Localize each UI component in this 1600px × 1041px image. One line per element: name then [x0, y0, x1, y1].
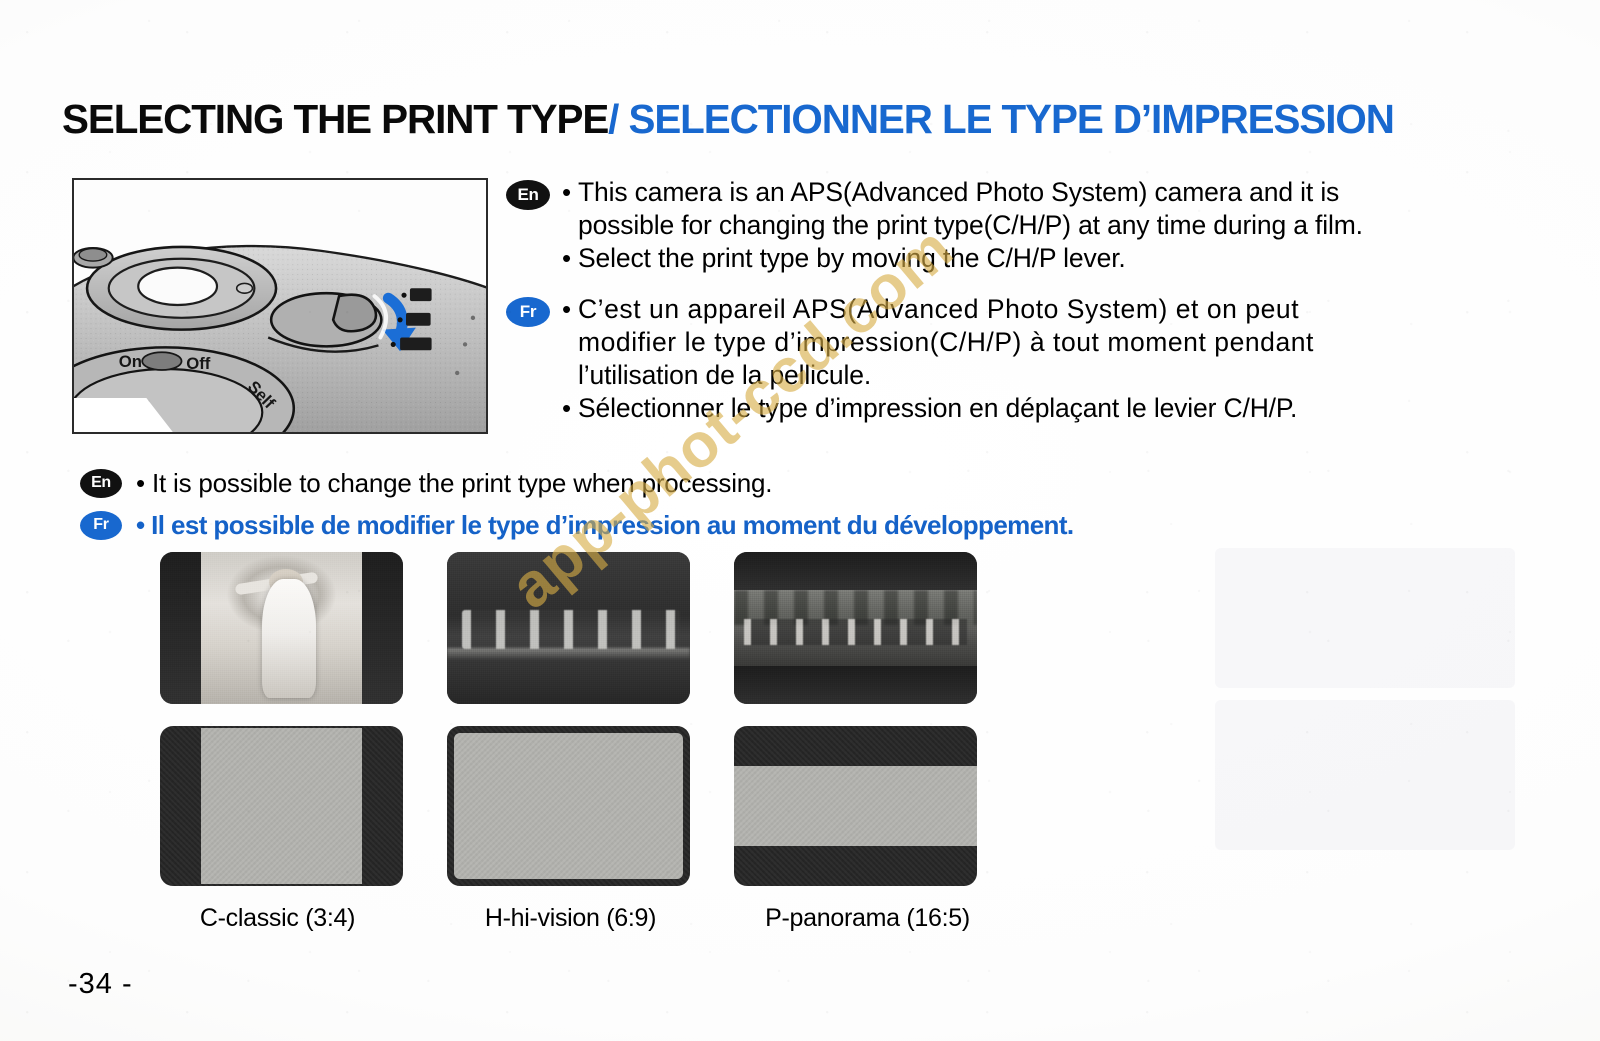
bleed-through-ghost	[1215, 700, 1515, 850]
english-instructions: En • This camera is an APS(Advanced Phot…	[506, 176, 1526, 275]
bullet-glyph: •	[136, 468, 145, 498]
note-block: En • It is possible to change the print …	[80, 462, 1380, 546]
sample-photo-classic	[160, 552, 403, 704]
language-badge-en: En	[506, 180, 550, 210]
instruction-line: This camera is an APS(Advanced Photo Sys…	[578, 176, 1363, 209]
bleed-through-ghost	[1215, 548, 1515, 688]
bullet-glyph: •	[136, 510, 145, 540]
page-number: -34 -	[68, 968, 133, 1001]
mark-h	[406, 313, 431, 326]
crop-diagram-hivision	[447, 726, 690, 886]
power-on-label: On	[119, 352, 142, 371]
note-text-en: • It is possible to change the print typ…	[136, 468, 772, 498]
power-switch	[142, 352, 181, 370]
crop-diagram-classic	[160, 726, 403, 886]
instruction-line: Select the print type by moving the C/H/…	[578, 242, 1126, 275]
bullet-item: • C’est un appareil APS(Advanced Photo S…	[562, 293, 1526, 392]
instruction-line: C’est un appareil APS(Advanced Photo Sys…	[578, 293, 1314, 326]
instruction-line: possible for changing the print type(C/H…	[578, 209, 1363, 242]
print-type-cell-classic: C-classic (3:4)	[160, 552, 403, 933]
instruction-line: l’utilisation de la pellicule.	[578, 359, 1314, 392]
language-badge-fr: Fr	[80, 511, 122, 540]
print-type-lever	[333, 295, 376, 332]
language-badge-en: En	[80, 469, 122, 498]
print-type-cell-panorama: P-panorama (16:5)	[734, 552, 977, 933]
mark-p	[400, 338, 432, 351]
page-title: SELECTING THE PRINT TYPE/ SELECTIONNER L…	[62, 96, 1520, 143]
bullet-glyph: •	[562, 176, 578, 209]
lens-screw	[237, 283, 253, 293]
bullet-glyph: •	[562, 242, 578, 275]
instruction-line: Sélectionner le type d’impression en dép…	[578, 392, 1297, 425]
camera-top-view-svg: On Off Self	[74, 180, 486, 432]
page-title-separator: /	[608, 96, 618, 142]
print-type-caption: P-panorama (16:5)	[746, 904, 989, 933]
note-sentence-en: It is possible to change the print type …	[152, 468, 772, 498]
camera-illustration: On Off Self	[72, 178, 488, 434]
print-type-examples: C-classic (3:4) H-hi-vision (6:9)	[160, 552, 1020, 933]
page-title-english: SELECTING THE PRINT TYPE	[62, 96, 608, 142]
print-type-cell-hivision: H-hi-vision (6:9)	[447, 552, 690, 933]
bullet-glyph: •	[562, 293, 578, 326]
power-off-label: Off	[186, 354, 211, 373]
print-type-caption: C-classic (3:4)	[156, 904, 399, 933]
mark-c	[410, 288, 432, 301]
print-type-caption: H-hi-vision (6:9)	[449, 904, 692, 933]
lens-glass	[138, 268, 217, 305]
note-text-fr: • Il est possible de modifier le type d’…	[136, 510, 1074, 540]
sample-photo-panorama	[734, 552, 977, 704]
note-sentence-fr: Il est possible de modifier le type d’im…	[151, 510, 1073, 540]
bullet-glyph: •	[562, 392, 578, 425]
crop-diagram-panorama	[734, 726, 977, 886]
print-type-row: C-classic (3:4) H-hi-vision (6:9)	[160, 552, 1020, 933]
bullet-item: • This camera is an APS(Advanced Photo S…	[562, 176, 1526, 242]
bullet-item: • Sélectionner le type d’impression en d…	[562, 392, 1526, 425]
page-title-french: SELECTIONNER LE TYPE D’IMPRESSION	[628, 96, 1393, 142]
note-row-en: En • It is possible to change the print …	[80, 462, 1380, 504]
instruction-block: En • This camera is an APS(Advanced Phot…	[506, 176, 1526, 425]
language-badge-fr: Fr	[506, 297, 550, 327]
note-row-fr: Fr • Il est possible de modifier le type…	[80, 504, 1380, 546]
instruction-line: modifier le type d’impression(C/H/P) à t…	[578, 326, 1314, 359]
sample-photo-hivision	[447, 552, 690, 704]
bullet-item: • Select the print type by moving the C/…	[562, 242, 1526, 275]
manual-page: SELECTING THE PRINT TYPE/ SELECTIONNER L…	[0, 0, 1600, 1041]
french-instructions: Fr • C’est un appareil APS(Advanced Phot…	[506, 293, 1526, 425]
